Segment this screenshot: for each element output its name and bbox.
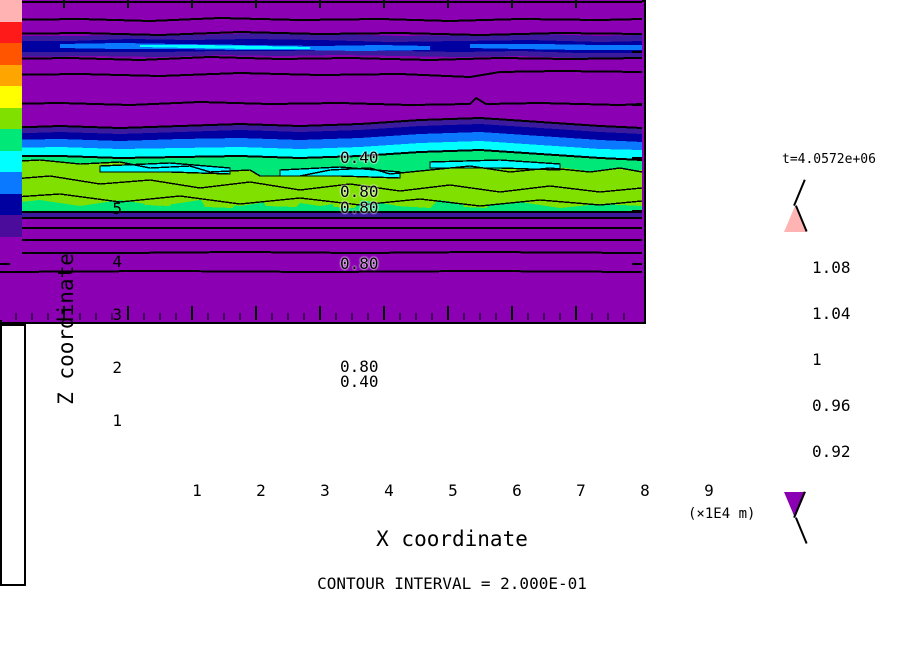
colorbar-band (0, 215, 22, 238)
x-tick-label: 9 (689, 481, 729, 500)
time-annotation: t=4.0572e+06 (782, 152, 876, 167)
contour-label: 0.80 (340, 254, 379, 273)
colorbar-band (0, 151, 22, 174)
colorbar-band (0, 237, 22, 259)
contour-interval-footer: CONTOUR INTERVAL = 2.000E-01 (0, 574, 904, 593)
x-tick-label: 4 (369, 481, 409, 500)
colorbar-band (0, 43, 22, 66)
colorbar-band (0, 65, 22, 88)
contour-plot-area[interactable] (0, 0, 646, 324)
colorbar-tick-label: 1.08 (812, 258, 851, 277)
colorbar-tick-label: 1.04 (812, 304, 851, 323)
colorbar-band (0, 0, 22, 23)
colorbar-band (0, 22, 22, 45)
x-tick-label: 2 (241, 481, 281, 500)
colorbar-tick-label: 0.92 (812, 442, 851, 461)
colorbar-band (0, 86, 22, 109)
contour-field (0, 0, 642, 320)
colorbar-cap-outline (793, 179, 806, 206)
x-tick-label: 5 (433, 481, 473, 500)
y-axis-title: Z coordinate (54, 239, 78, 419)
x-tick-label: 3 (305, 481, 345, 500)
y-tick-label: 2 (96, 358, 122, 377)
y-tick-label: 1 (96, 411, 122, 430)
contour-label: 0.80 (340, 198, 379, 217)
x-axis-unit-label: (×1E4 m) (688, 506, 755, 522)
x-tick-label: 7 (561, 481, 601, 500)
colorbar-band (0, 194, 22, 217)
contour-label: 0.40 (340, 372, 379, 391)
colorbar-tick-label: 0.96 (812, 396, 851, 415)
colorbar-band (0, 108, 22, 131)
y-tick-label: 5 (96, 199, 122, 218)
contour-label: 0.40 (340, 148, 379, 167)
x-tick-label: 8 (625, 481, 665, 500)
y-tick-label: 3 (96, 305, 122, 324)
y-tick-label: 4 (96, 252, 122, 271)
colorbar-band (0, 129, 22, 152)
x-tick-label: 1 (177, 481, 217, 500)
colorbar-band (0, 172, 22, 195)
x-axis-title: X coordinate (0, 527, 904, 551)
colorbar-tick-label: 1 (812, 350, 822, 369)
x-tick-label: 6 (497, 481, 537, 500)
